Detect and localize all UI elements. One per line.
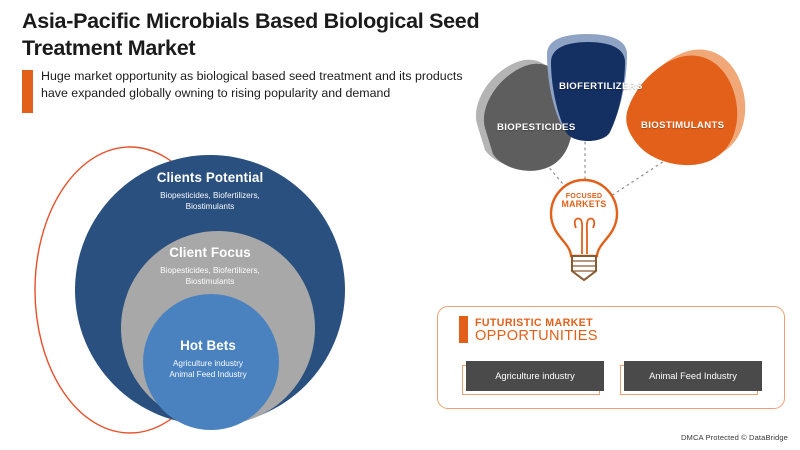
venn-subtitle-clients-potential: Biopesticides, Biofertilizers,Biostimula… [75, 190, 345, 213]
futuristic-market-panel: FUTURISTIC MARKET OPPORTUNITIES Agricult… [437, 306, 785, 409]
chip-animal-feed-industry[interactable]: Animal Feed Industry [624, 361, 762, 391]
shapes-svg [455, 28, 795, 288]
subtitle-text: Huge market opportunity as biological ba… [41, 68, 482, 102]
panel-accent-bar [459, 316, 468, 343]
venn-label-hot-bets: Hot Bets Agriculture industryAnimal Feed… [108, 338, 308, 381]
blob-label-biofertilizers: BIOFERTILIZERS [559, 81, 643, 92]
venn-title-hot-bets: Hot Bets [108, 338, 308, 353]
copyright-footer: DMCA Protected © DataBridge [681, 433, 788, 442]
venn-subtitle-client-focus: Biopesticides, Biofertilizers,Biostimula… [90, 265, 330, 288]
chip-wrap-agriculture-industry: Agriculture industry [462, 361, 604, 395]
bulb-base [572, 256, 596, 280]
blob-label-biostimulants: BIOSTIMULANTS [641, 120, 724, 131]
orange-accent-bar [22, 70, 33, 113]
venn-title-client-focus: Client Focus [90, 245, 330, 260]
infographic-page: Asia-Pacific Microbials Based Biological… [0, 0, 800, 450]
header: Asia-Pacific Microbials Based Biological… [22, 8, 482, 102]
chip-wrap-animal-feed-industry: Animal Feed Industry [620, 361, 762, 395]
panel-heading: FUTURISTIC MARKET OPPORTUNITIES [475, 317, 598, 344]
focused-markets-diagram: BIOPESTICIDES BIOFERTILIZERS BIOSTIMULAN… [455, 28, 795, 288]
venn-subtitle-hot-bets: Agriculture industryAnimal Feed Industry [108, 358, 308, 381]
panel-heading-line2: OPPORTUNITIES [475, 328, 598, 344]
subtitle-block: Huge market opportunity as biological ba… [22, 68, 482, 102]
page-title: Asia-Pacific Microbials Based Biological… [22, 8, 482, 62]
blob-label-biopesticides: BIOPESTICIDES [497, 122, 576, 133]
opportunity-chip-list: Agriculture industry Animal Feed Industr… [462, 361, 762, 395]
venn-title-clients-potential: Clients Potential [75, 170, 345, 185]
venn-label-clients-potential: Clients Potential Biopesticides, Biofert… [75, 170, 345, 213]
concentric-circles-diagram: Clients Potential Biopesticides, Biofert… [30, 140, 360, 440]
venn-label-client-focus: Client Focus Biopesticides, Biofertilize… [90, 245, 330, 288]
bulb-text-line2: MARKETS [549, 200, 619, 209]
blob-biostimulants [626, 55, 737, 165]
chip-agriculture-industry[interactable]: Agriculture industry [466, 361, 604, 391]
